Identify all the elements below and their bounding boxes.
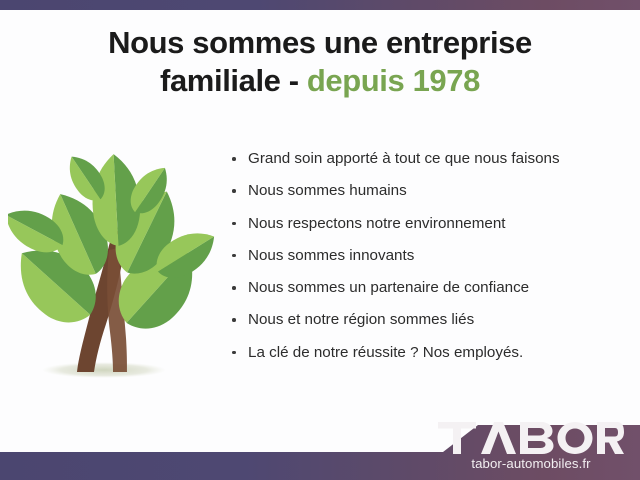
page-title-line-1: Nous sommes une entreprise: [0, 24, 640, 62]
bullet-dot-icon: [232, 254, 236, 258]
list-item-label: Nous sommes un partenaire de confiance: [248, 279, 529, 296]
brand-tagline: tabor-automobiles.fr: [438, 457, 624, 472]
footer-brand-band: tabor-automobiles.fr: [0, 400, 640, 480]
list-item: Nous sommes humains: [228, 180, 630, 203]
page-title-line-2-plain: familiale -: [160, 63, 307, 98]
list-item-label: La clé de notre réussite ? Nos employés.: [248, 344, 523, 361]
tree-ground-shadow: [42, 362, 166, 378]
bullet-dot-icon: [232, 318, 236, 322]
list-item: La clé de notre réussite ? Nos employés.: [228, 342, 630, 365]
list-item-label: Nous et notre région sommes liés: [248, 311, 474, 328]
list-item-label: Nous sommes humains: [248, 182, 407, 199]
list-item-label: Nous sommes innovants: [248, 247, 414, 264]
page-title-accent: depuis 1978: [307, 63, 480, 98]
bullet-dot-icon: [232, 222, 236, 226]
page-title-line-2: familiale - depuis 1978: [0, 62, 640, 100]
top-accent-bar: [0, 0, 640, 10]
bullet-dot-icon: [232, 157, 236, 161]
list-item-label: Grand soin apporté à tout ce que nous fa…: [248, 150, 560, 167]
list-item: Nous respectons notre environnement: [228, 213, 630, 236]
value-bullet-list: Grand soin apporté à tout ce que nous fa…: [228, 148, 630, 374]
tabor-logo: [438, 421, 624, 455]
list-item: Nous sommes innovants: [228, 245, 630, 268]
bullet-dot-icon: [232, 351, 236, 355]
list-item: Nous et notre région sommes liés: [228, 309, 630, 332]
list-item-label: Nous respectons notre environnement: [248, 215, 506, 232]
page-title: Nous sommes une entreprise familiale - d…: [0, 24, 640, 100]
bullet-dot-icon: [232, 286, 236, 290]
brand-lockup: tabor-automobiles.fr: [438, 421, 624, 472]
list-item: Grand soin apporté à tout ce que nous fa…: [228, 148, 630, 171]
slide-canvas: Nous sommes une entreprise familiale - d…: [0, 0, 640, 480]
list-item: Nous sommes un partenaire de confiance: [228, 277, 630, 300]
tree-illustration: [8, 148, 220, 388]
bullet-dot-icon: [232, 189, 236, 193]
